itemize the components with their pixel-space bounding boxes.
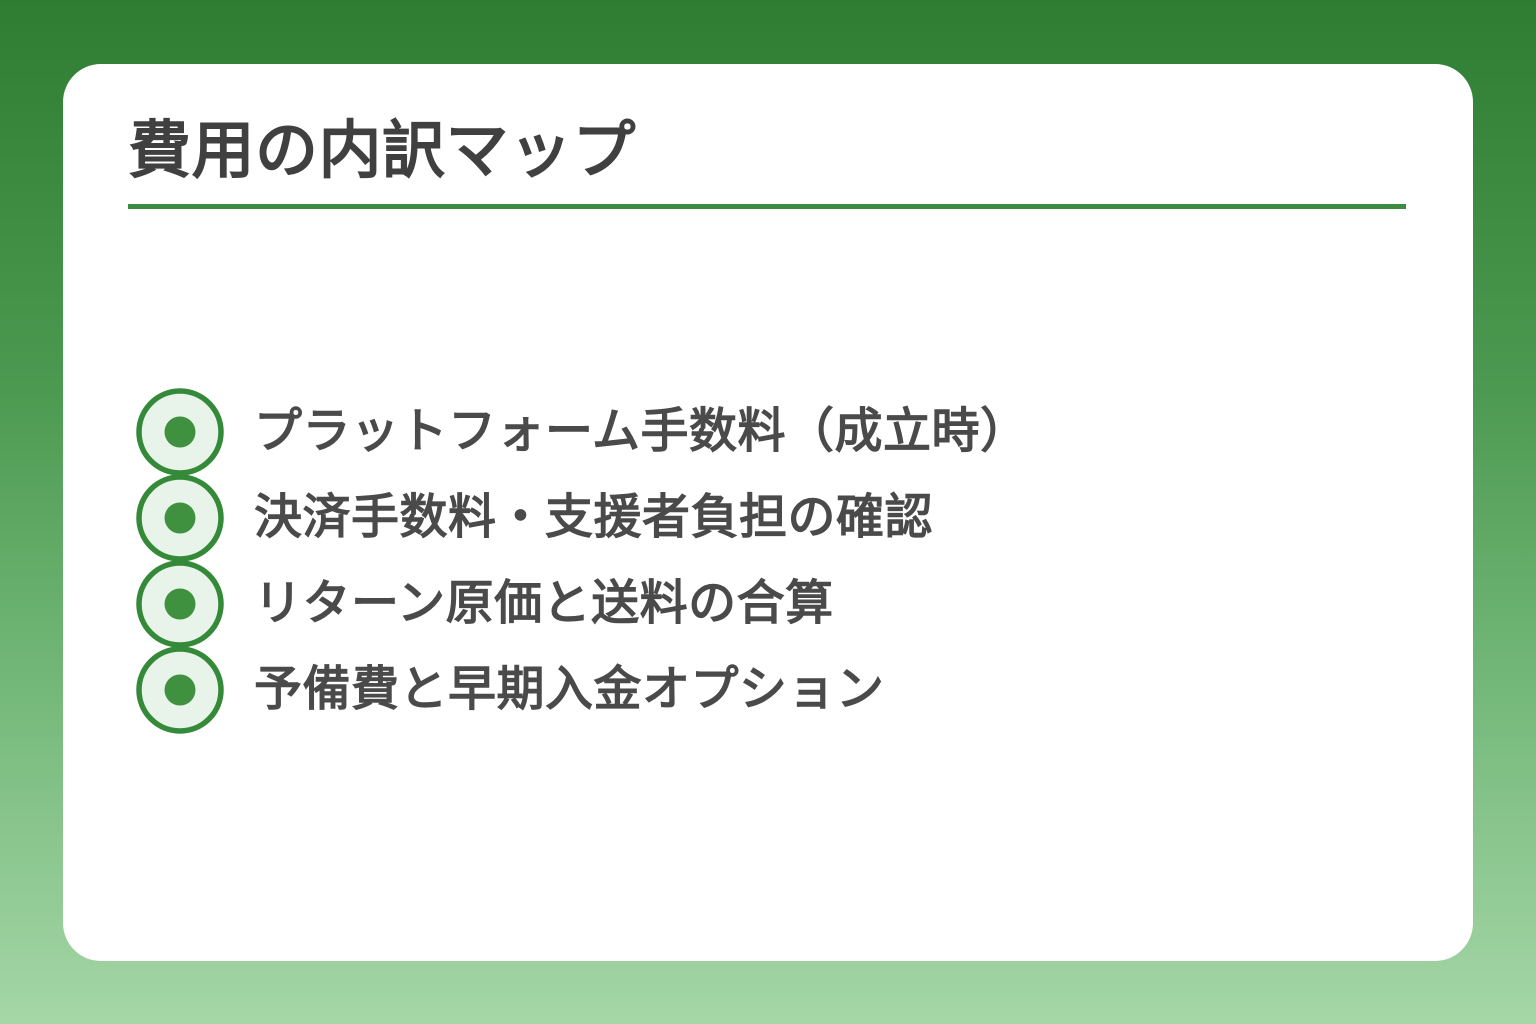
filled-circle-bullet-icon <box>136 474 224 562</box>
page-title: 費用の内訳マップ <box>128 114 1405 188</box>
list-item: プラットフォーム手数料（成立時） <box>128 389 1428 475</box>
list-item: リターン原価と送料の合算 <box>128 561 1428 647</box>
list-item-label: 予備費と早期入金オプション <box>254 666 885 714</box>
list-item: 予備費と早期入金オプション <box>128 647 1428 733</box>
content-card: 費用の内訳マップ プラットフォーム手数料（成立時） <box>63 64 1473 961</box>
bullet-list: プラットフォーム手数料（成立時） 決済手数料・支援者負担の確認 <box>128 389 1428 733</box>
list-item-label: 決済手数料・支援者負担の確認 <box>254 494 933 542</box>
list-item-label: リターン原価と送料の合算 <box>254 580 834 628</box>
list-item: 決済手数料・支援者負担の確認 <box>128 475 1428 561</box>
title-block: 費用の内訳マップ <box>128 110 1405 209</box>
list-item-label: プラットフォーム手数料（成立時） <box>254 408 1029 456</box>
filled-circle-bullet-icon <box>136 646 224 734</box>
title-underline-rule <box>128 204 1406 209</box>
filled-circle-bullet-icon <box>136 388 224 476</box>
slide-root: 費用の内訳マップ プラットフォーム手数料（成立時） <box>0 0 1536 1024</box>
filled-circle-bullet-icon <box>136 560 224 648</box>
